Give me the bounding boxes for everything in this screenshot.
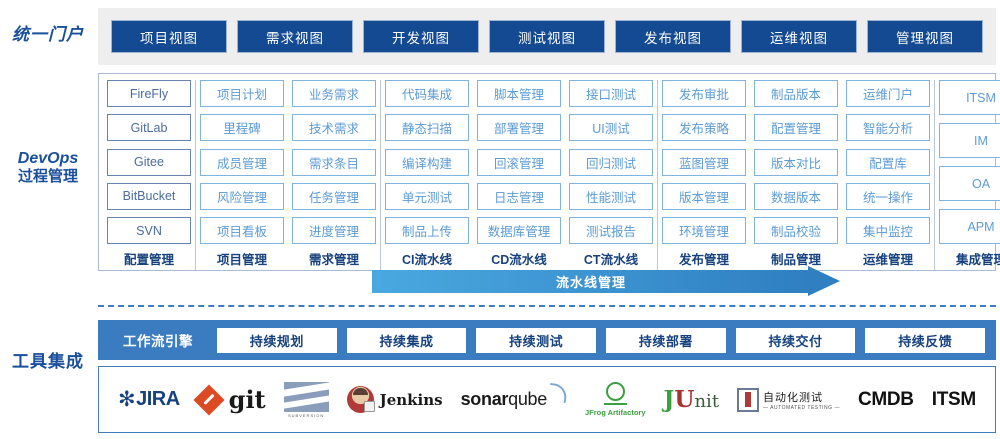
devops-capability-cell[interactable]: 回滚管理 [477, 149, 561, 176]
devops-capability-cell[interactable]: 智能分析 [846, 114, 930, 141]
devops-column: 制品版本配置管理版本对比数据版本制品校验制品管理 [750, 80, 842, 270]
devops-capability-cell[interactable]: 接口测试 [569, 80, 653, 107]
devops-capability-cell[interactable]: 蓝图管理 [662, 149, 746, 176]
workflow-stage-button[interactable]: 持续部署 [606, 328, 726, 353]
section-divider [98, 305, 996, 307]
portal-view-button[interactable]: 需求视图 [237, 20, 353, 53]
jfrog-ring-icon [606, 382, 625, 401]
tool-logo-sonarqube[interactable]: sonarqube [461, 377, 567, 423]
devops-column-groups: FireFlyGitLabGiteeBitBucketSVN配置管理项目计划里程… [99, 74, 995, 270]
tool-logo-cmdb[interactable]: CMDB [858, 377, 914, 423]
devops-capability-cell[interactable]: 单元测试 [385, 183, 469, 210]
devops-capability-cell[interactable]: 数据版本 [754, 183, 838, 210]
devops-capability-cell[interactable]: 版本对比 [754, 149, 838, 176]
devops-cell-list: 脚本管理部署管理回滚管理日志管理数据库管理 [477, 80, 561, 246]
devops-capability-cell[interactable]: 成员管理 [200, 149, 284, 176]
devops-capability-cell[interactable]: 性能测试 [569, 183, 653, 210]
workflow-engine-label: 工作流引擎 [104, 330, 212, 350]
devops-cell-list: 接口测试UI测试回归测试性能测试测试报告 [569, 80, 653, 246]
devops-column: FireFlyGitLabGiteeBitBucketSVN配置管理 [103, 80, 195, 270]
devops-capability-cell[interactable]: 编译构建 [385, 149, 469, 176]
devops-capability-cell[interactable]: 测试报告 [569, 217, 653, 244]
devops-capability-cell[interactable]: UI测试 [569, 114, 653, 141]
tool-logo-junit[interactable]: JUnit [664, 377, 720, 423]
devops-column-title: CD流水线 [477, 246, 561, 270]
devops-cell-list: FireFlyGitLabGiteeBitBucketSVN [107, 80, 191, 246]
junit-u: U [674, 386, 694, 413]
devops-capability-cell[interactable]: 项目计划 [200, 80, 284, 107]
devops-column-group: ITSMIMOAAPM集成管理 [934, 80, 1000, 270]
cmdb-label: CMDB [858, 389, 914, 411]
jenkins-butler-icon [347, 386, 374, 413]
devops-capability-cell[interactable]: SVN [107, 217, 191, 244]
portal-view-button[interactable]: 发布视图 [615, 20, 731, 53]
workflow-stage-button[interactable]: 持续集成 [347, 328, 467, 353]
devops-capability-cell[interactable]: IM [939, 123, 1000, 158]
junit-nit: nit [694, 391, 719, 412]
devops-cell-list: ITSMIMOAAPM [939, 80, 1000, 246]
jira-mark-icon: ✻ [118, 387, 135, 412]
devops-column-group: 项目计划里程碑成员管理风险管理项目看板项目管理业务需求技术需求需求条目任务管理进… [195, 80, 380, 270]
jfrog-label: JFrog Artifactory [585, 408, 646, 417]
rail-label-unified-portal: 统一门户 [0, 25, 96, 45]
portal-view-button[interactable]: 测试视图 [489, 20, 605, 53]
devops-capability-cell[interactable]: 代码集成 [385, 80, 469, 107]
sonarqube-label: sonarqube [461, 389, 547, 410]
devops-capability-cell[interactable]: 脚本管理 [477, 80, 561, 107]
tool-logo-automated-testing[interactable]: 自动化测试— AUTOMATED TESTING — [737, 377, 840, 423]
devops-process-panel: FireFlyGitLabGiteeBitBucketSVN配置管理项目计划里程… [98, 73, 996, 271]
devops-capability-cell[interactable]: 配置管理 [754, 114, 838, 141]
devops-capability-cell[interactable]: 业务需求 [292, 80, 376, 107]
devops-capability-cell[interactable]: 需求条目 [292, 149, 376, 176]
devops-capability-cell[interactable]: 技术需求 [292, 114, 376, 141]
devops-capability-cell[interactable]: 数据库管理 [477, 217, 561, 244]
devops-cell-list: 业务需求技术需求需求条目任务管理进度管理 [292, 80, 376, 246]
tool-logo-jfrog[interactable]: JFrog Artifactory [585, 377, 646, 423]
devops-column-title: CT流水线 [569, 246, 653, 270]
itsm-label: ITSM [932, 389, 976, 411]
devops-capability-cell[interactable]: 运维门户 [846, 80, 930, 107]
arrow-label: 流水线管理 [372, 270, 810, 293]
devops-column: 接口测试UI测试回归测试性能测试测试报告CT流水线 [565, 80, 657, 270]
devops-column-title: 项目管理 [200, 246, 284, 270]
devops-capability-cell[interactable]: 风险管理 [200, 183, 284, 210]
devops-capability-cell[interactable]: GitLab [107, 114, 191, 141]
jira-label: JIRA [136, 388, 180, 411]
devops-column-group: FireFlyGitLabGiteeBitBucketSVN配置管理 [103, 80, 195, 270]
tool-logo-jenkins[interactable]: Jenkins [347, 377, 443, 423]
devops-capability-cell[interactable]: 进度管理 [292, 217, 376, 244]
junit-j: J [664, 386, 675, 413]
unified-portal-bar: 项目视图需求视图开发视图测试视图发布视图运维视图管理视图 [98, 8, 996, 65]
rail-label-devops-title: DevOps [18, 150, 78, 167]
devops-platform-architecture-diagram: 统一门户 DevOps 过程管理 工具集成 项目视图需求视图开发视图测试视图发布… [0, 0, 1000, 439]
devops-cell-list: 发布审批发布策略蓝图管理版本管理环境管理 [662, 80, 746, 246]
subversion-mark-icon [284, 382, 329, 412]
devops-capability-cell[interactable]: APM [939, 209, 1000, 244]
devops-column-title: 运维管理 [846, 246, 930, 270]
devops-cell-list: 代码集成静态扫描编译构建单元测试制品上传 [385, 80, 469, 246]
devops-column: 业务需求技术需求需求条目任务管理进度管理需求管理 [288, 80, 380, 270]
workflow-stage-button[interactable]: 持续反馈 [865, 328, 985, 353]
devops-capability-cell[interactable]: 任务管理 [292, 183, 376, 210]
devops-column: 脚本管理部署管理回滚管理日志管理数据库管理CD流水线 [473, 80, 565, 270]
devops-capability-cell[interactable]: 回归测试 [569, 149, 653, 176]
devops-column-title: 需求管理 [292, 246, 376, 270]
devops-cell-list: 制品版本配置管理版本对比数据版本制品校验 [754, 80, 838, 246]
devops-capability-cell[interactable]: 制品校验 [754, 217, 838, 244]
automated-testing-icon [737, 388, 759, 412]
devops-column-group: 代码集成静态扫描编译构建单元测试制品上传CI流水线脚本管理部署管理回滚管理日志管… [380, 80, 657, 270]
devops-capability-cell[interactable]: 发布审批 [662, 80, 746, 107]
rail-label-devops-subtitle: 过程管理 [0, 168, 96, 185]
pipeline-management-arrow: 流水线管理 [372, 270, 840, 293]
devops-capability-cell[interactable]: ITSM [939, 80, 1000, 115]
devops-capability-cell[interactable]: 配置库 [846, 149, 930, 176]
workflow-stage-button[interactable]: 持续交付 [736, 328, 856, 353]
devops-column-title: 发布管理 [662, 246, 746, 270]
tool-logo-subversion[interactable]: SUBVERSION [284, 377, 329, 423]
devops-capability-cell[interactable]: 发布策略 [662, 114, 746, 141]
devops-capability-cell[interactable]: FireFly [107, 80, 191, 107]
rail-label-devops: DevOps 过程管理 [0, 150, 96, 186]
sonarqube-waves-icon [548, 383, 568, 403]
tool-integration-strip: ✻JIRAgitSUBVERSIONJenkinssonarqubeJFrog … [98, 366, 996, 433]
tool-logo-itsm[interactable]: ITSM [932, 377, 976, 423]
tool-logo-git[interactable]: git [198, 377, 266, 423]
devops-column: ITSMIMOAAPM集成管理 [935, 80, 1000, 270]
devops-capability-cell[interactable]: 项目看板 [200, 217, 284, 244]
jenkins-label: Jenkins [380, 391, 443, 409]
devops-column: 运维门户智能分析配置库统一操作集中监控运维管理 [842, 80, 934, 270]
devops-capability-cell[interactable]: 版本管理 [662, 183, 746, 210]
devops-capability-cell[interactable]: 制品上传 [385, 217, 469, 244]
workflow-stage-button[interactable]: 持续测试 [476, 328, 596, 353]
portal-view-button[interactable]: 项目视图 [111, 20, 227, 53]
git-diamond-icon [193, 384, 224, 415]
portal-view-button[interactable]: 管理视图 [867, 20, 983, 53]
portal-view-button[interactable]: 运维视图 [741, 20, 857, 53]
devops-capability-cell[interactable]: 环境管理 [662, 217, 746, 244]
devops-column-group: 发布审批发布策略蓝图管理版本管理环境管理发布管理制品版本配置管理版本对比数据版本… [657, 80, 934, 270]
devops-capability-cell[interactable]: 静态扫描 [385, 114, 469, 141]
devops-capability-cell[interactable]: 统一操作 [846, 183, 930, 210]
devops-capability-cell[interactable]: 制品版本 [754, 80, 838, 107]
workflow-stage-button[interactable]: 持续规划 [217, 328, 337, 353]
devops-column: 发布审批发布策略蓝图管理版本管理环境管理发布管理 [658, 80, 750, 270]
devops-column: 项目计划里程碑成员管理风险管理项目看板项目管理 [196, 80, 288, 270]
devops-capability-cell[interactable]: 集中监控 [846, 217, 930, 244]
automated-testing-label-cn: 自动化测试 [763, 389, 840, 405]
tool-logo-jira[interactable]: ✻JIRA [118, 377, 180, 423]
automated-testing-label-en: — AUTOMATED TESTING — [763, 405, 840, 411]
jfrog-bar-icon [604, 403, 627, 405]
devops-column-title: 集成管理 [939, 246, 1000, 270]
devops-cell-list: 项目计划里程碑成员管理风险管理项目看板 [200, 80, 284, 246]
devops-capability-cell[interactable]: OA [939, 166, 1000, 201]
devops-capability-cell[interactable]: 日志管理 [477, 183, 561, 210]
devops-column: 代码集成静态扫描编译构建单元测试制品上传CI流水线 [381, 80, 473, 270]
subversion-label: SUBVERSION [288, 413, 324, 418]
devops-column-title: 配置管理 [107, 246, 191, 270]
devops-capability-cell[interactable]: 里程碑 [200, 114, 284, 141]
devops-capability-cell[interactable]: BitBucket [107, 183, 191, 210]
rail-label-tool-integration: 工具集成 [0, 352, 96, 372]
portal-view-button[interactable]: 开发视图 [363, 20, 479, 53]
arrow-head-icon [808, 266, 840, 296]
devops-capability-cell[interactable]: 部署管理 [477, 114, 561, 141]
git-label: git [229, 385, 266, 414]
workflow-engine-bar: 工作流引擎 持续规划持续集成持续测试持续部署持续交付持续反馈 [98, 320, 996, 360]
devops-column-title: CI流水线 [385, 246, 469, 270]
devops-cell-list: 运维门户智能分析配置库统一操作集中监控 [846, 80, 930, 246]
devops-capability-cell[interactable]: Gitee [107, 149, 191, 176]
